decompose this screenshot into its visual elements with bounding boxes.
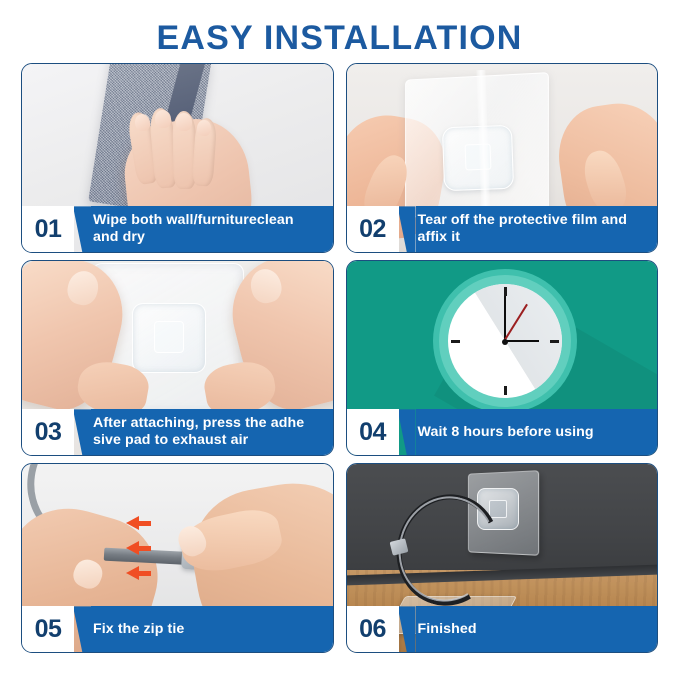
step-caption-05: 05 Fix the zip tie (22, 606, 333, 652)
step-number-05: 05 (22, 606, 74, 652)
step-number-01: 01 (22, 206, 74, 252)
clock-icon (448, 284, 562, 398)
caption-line: sive pad to exhaust air (93, 432, 325, 449)
caption-slant (73, 409, 91, 455)
clock-center-pin (502, 339, 508, 345)
step-text-05: Fix the zip tie (91, 606, 333, 652)
step-panel-03: 03 After attaching, press the adhe sive … (21, 260, 334, 456)
step-panel-02: 02 Tear off the protective film and affi… (346, 63, 659, 253)
caption-line: and dry (93, 229, 325, 246)
step-panel-05: 05 Fix the zip tie (21, 463, 334, 653)
step-caption-02: 02 Tear off the protective film and affi… (347, 206, 658, 252)
clock-tick-6 (504, 386, 507, 395)
step-text-04: Wait 8 hours before using (416, 409, 658, 455)
steps-grid: 01 Wipe both wall/furnitureclean and dry… (0, 63, 679, 653)
clock-hour-hand (505, 340, 539, 342)
step-number-06: 06 (347, 606, 399, 652)
step-number-02: 02 (347, 206, 399, 252)
step-panel-04: 04 Wait 8 hours before using (346, 260, 659, 456)
caption-line: Tear off the protective film and (418, 212, 650, 229)
arrow-tail (138, 521, 151, 526)
caption-slant (73, 206, 91, 252)
arrow-tail (138, 546, 151, 551)
step-caption-06: 06 Finished (347, 606, 658, 652)
step-text-06: Finished (416, 606, 658, 652)
caption-slant (398, 606, 416, 652)
caption-slant (73, 606, 91, 652)
step-text-02: Tear off the protective film and affix i… (416, 206, 658, 252)
caption-slant (398, 206, 416, 252)
caption-line: After attaching, press the adhe (93, 415, 325, 432)
mount-center (154, 321, 184, 353)
fingernail (176, 113, 192, 131)
caption-line: Wipe both wall/furnitureclean (93, 212, 325, 229)
caption-slant (398, 409, 416, 455)
step-number-03: 03 (22, 409, 74, 455)
clock-tick-9 (451, 340, 460, 343)
hook-center (489, 500, 507, 518)
caption-line: Wait 8 hours before using (418, 424, 650, 441)
page-title: EASY INSTALLATION (0, 0, 679, 63)
step-text-03: After attaching, press the adhe sive pad… (91, 409, 333, 455)
caption-line: Fix the zip tie (93, 621, 325, 638)
caption-line: Finished (418, 621, 650, 638)
step-caption-04: 04 Wait 8 hours before using (347, 409, 658, 455)
step-caption-01: 01 Wipe both wall/furnitureclean and dry (22, 206, 333, 252)
step-caption-03: 03 After attaching, press the adhe sive … (22, 409, 333, 455)
step-number-04: 04 (347, 409, 399, 455)
arrow-tail (138, 571, 151, 576)
clock-tick-3 (550, 340, 559, 343)
step-text-01: Wipe both wall/furnitureclean and dry (91, 206, 333, 252)
caption-line: affix it (418, 229, 650, 246)
clock-tick-12 (504, 287, 507, 296)
step-panel-01: 01 Wipe both wall/furnitureclean and dry (21, 63, 334, 253)
step-panel-06: 06 Finished (346, 463, 659, 653)
